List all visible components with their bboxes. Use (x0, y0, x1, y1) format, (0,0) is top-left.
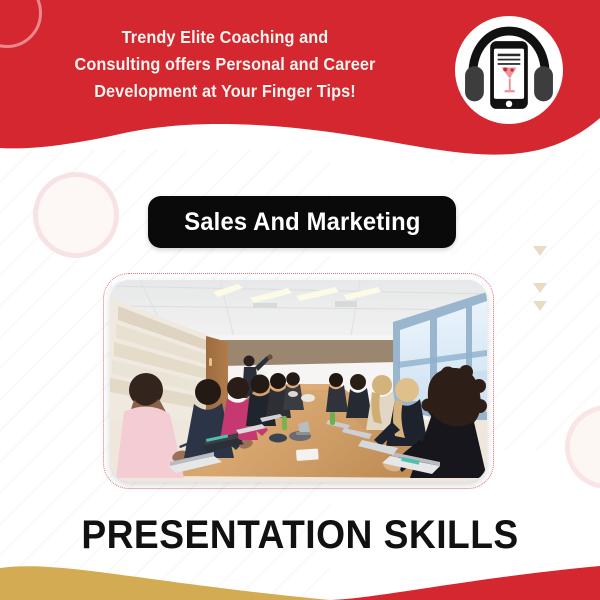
category-badge: Sales And Marketing (148, 196, 456, 248)
triangle-down-icon-1 (533, 246, 547, 256)
conference-room-photo (110, 280, 487, 482)
phone-home-button-icon (506, 101, 513, 108)
page-title: PRESENTATION SKILLS (21, 513, 579, 558)
triangle-down-icon-3 (533, 301, 547, 311)
header-tagline-line-1: Trendy Elite Coaching and (44, 24, 407, 51)
header-tagline-line-3: Development at Your Finger Tips! (44, 78, 407, 105)
headphone-earcup-right-icon (534, 66, 553, 101)
triangle-down-icon-2 (533, 283, 547, 293)
category-badge-label: Sales And Marketing (184, 208, 420, 237)
header-tagline-line-2: Consulting offers Personal and Career (44, 51, 407, 78)
gold-wedge (0, 566, 330, 600)
header-banner: Trendy Elite Coaching and Consulting off… (0, 0, 600, 190)
red-wedge (330, 566, 600, 600)
headphone-earcup-left-icon (465, 66, 484, 101)
brand-logo (455, 16, 563, 124)
header-tagline: Trendy Elite Coaching and Consulting off… (44, 24, 407, 105)
poster-canvas: Trendy Elite Coaching and Consulting off… (0, 0, 600, 600)
